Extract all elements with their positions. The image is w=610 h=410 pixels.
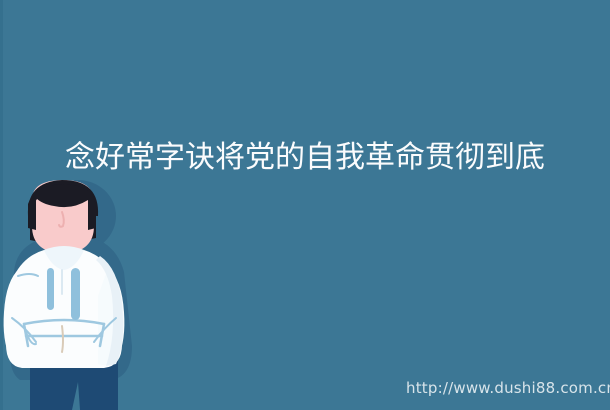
page-title: 念好常字诀将党的自我革命贯彻到底 bbox=[0, 141, 610, 175]
site-url-watermark: http://www.dushi88.com.cn bbox=[406, 379, 610, 398]
hoodie bbox=[4, 246, 125, 368]
promo-banner: 念好常字诀将党的自我革命贯彻到底 bbox=[0, 0, 610, 410]
person-illustration bbox=[0, 176, 180, 410]
